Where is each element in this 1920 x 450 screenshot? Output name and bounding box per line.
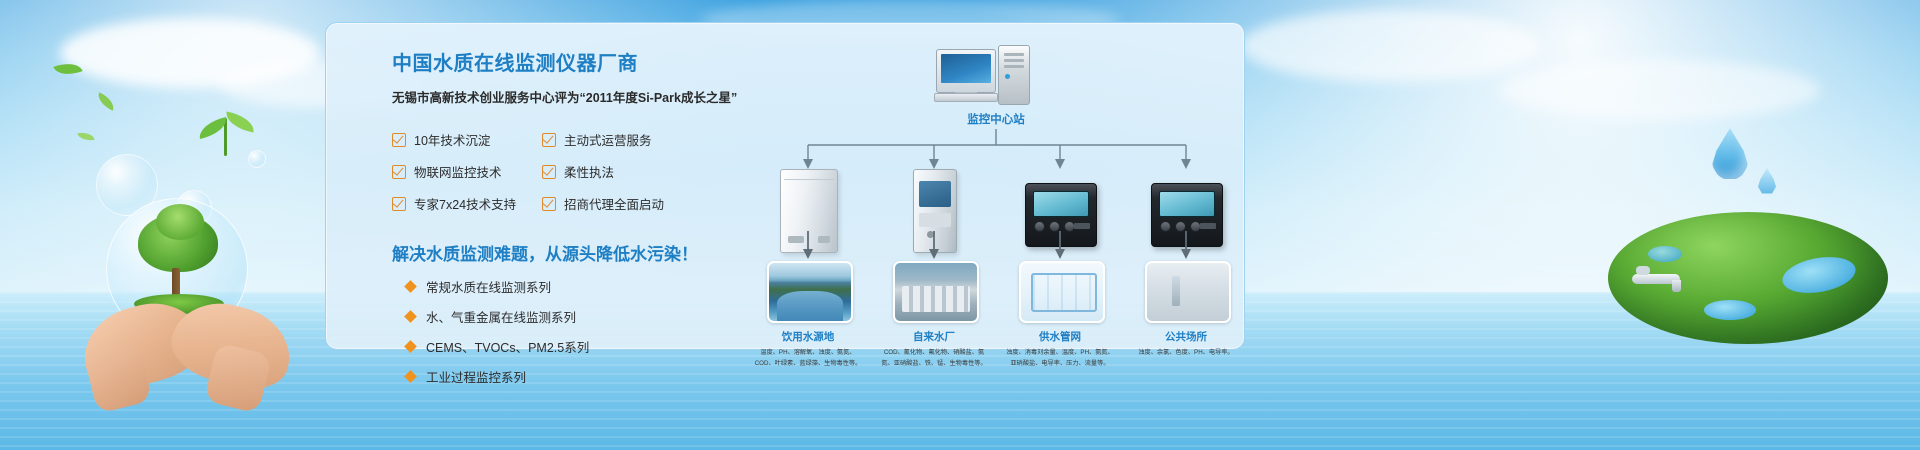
- page-title: 中国水质在线监测仪器厂商: [392, 47, 752, 76]
- checkbox-icon: [392, 197, 406, 211]
- list-item: CEMS、TVOCs、PM2.5系列: [392, 337, 752, 356]
- cloud-decoration: [1500, 60, 1820, 120]
- checklist-item: 物联网监控技术: [392, 162, 542, 181]
- scenario-caption-row: 饮用水源地 温度、PH、溶解氧、浊度、氨氮、COD、叶绿素、蓝绿藻、生物毒性等。…: [756, 329, 1226, 399]
- checkbox-icon: [392, 165, 406, 179]
- list-item-label: 水、气重金属在线监测系列: [426, 307, 576, 326]
- faucet-icon: [1632, 266, 1688, 292]
- device-rack-analyzer: [913, 169, 957, 253]
- device-row: [756, 137, 1226, 229]
- diamond-bullet-icon: [404, 340, 417, 353]
- scenario-caption: 供水管网 浊度、消毒刘余量、温度、PH、氨氮、亚硝酸盐、电导率、压力、流量等。: [1006, 329, 1114, 370]
- scenario-detail: 温度、PH、溶解氧、浊度、氨氮、COD、叶绿素、蓝绿藻、生物毒性等。: [754, 348, 862, 370]
- product-series-list: 常规水质在线监测系列 水、气重金属在线监测系列 CEMS、TVOCs、PM2.5…: [392, 277, 752, 386]
- bubble-decoration: [248, 150, 266, 168]
- checkbox-icon: [542, 165, 556, 179]
- cloud-decoration: [1240, 10, 1540, 82]
- checklist-label: 物联网监控技术: [414, 162, 502, 181]
- monitoring-center-workstation-icon: [936, 45, 1056, 105]
- scenario-detail: COD、氰化物、氟化物、硝酸盐、氨氮、亚硝酸盐、铁、锰、生物毒性等。: [880, 348, 988, 370]
- checklist-label: 主动式运营服务: [564, 130, 652, 149]
- checklist-item: 招商代理全面启动: [542, 194, 692, 213]
- scenario-title: 公共场所: [1132, 329, 1240, 344]
- scenario-title: 饮用水源地: [754, 329, 862, 344]
- checklist-item: 专家7x24技术支持: [392, 194, 542, 213]
- checklist-label: 柔性执法: [564, 162, 614, 181]
- scenario-photo-river: [767, 261, 853, 323]
- panel-text-column: 中国水质在线监测仪器厂商 无锡市高新技术创业服务中心评为“2011年度Si-Pa…: [392, 47, 752, 397]
- checklist-item: 10年技术沉淀: [392, 130, 542, 149]
- scenario-photo-public-tap: [1145, 261, 1231, 323]
- list-item: 常规水质在线监测系列: [392, 277, 752, 296]
- checklist-item: 主动式运营服务: [542, 130, 692, 149]
- main-panel: 中国水质在线监测仪器厂商 无锡市高新技术创业服务中心评为“2011年度Si-Pa…: [325, 22, 1245, 350]
- feature-checklist: 10年技术沉淀 主动式运营服务 物联网监控技术 柔性执法 专家7x24技术支持: [392, 130, 692, 226]
- hands-holding-tree-illustration: [60, 198, 300, 383]
- banner-stage: 中国水质在线监测仪器厂商 无锡市高新技术创业服务中心评为“2011年度Si-Pa…: [0, 0, 1920, 450]
- slogan-text: 解决水质监测难题，从源头降低水污染！: [392, 240, 752, 265]
- scenario-title: 供水管网: [1006, 329, 1114, 344]
- page-subtitle: 无锡市高新技术创业服务中心评为“2011年度Si-Park成长之星”: [392, 87, 752, 106]
- sprout-icon: [196, 112, 256, 156]
- checklist-label: 招商代理全面启动: [564, 194, 664, 213]
- scenario-photo-pipeline: [1019, 261, 1105, 323]
- scenario-detail: 浊度、消毒刘余量、温度、PH、氨氮、亚硝酸盐、电导率、压力、流量等。: [1006, 348, 1114, 370]
- diamond-bullet-icon: [404, 310, 417, 323]
- device-panel-analyzer: [1025, 183, 1097, 247]
- scenario-photo-waterworks: [893, 261, 979, 323]
- checklist-item: 柔性执法: [542, 162, 692, 181]
- device-panel-analyzer: [1151, 183, 1223, 247]
- list-item-label: CEMS、TVOCs、PM2.5系列: [426, 337, 589, 356]
- scenario-caption: 公共场所 浊度、余氯、色度、PH、电导率。: [1132, 329, 1240, 359]
- scenario-caption: 饮用水源地 温度、PH、溶解氧、浊度、氨氮、COD、叶绿素、蓝绿藻、生物毒性等。: [754, 329, 862, 370]
- list-item-label: 常规水质在线监测系列: [426, 277, 551, 296]
- scenario-caption: 自来水厂 COD、氰化物、氟化物、硝酸盐、氨氮、亚硝酸盐、铁、锰、生物毒性等。: [880, 329, 988, 370]
- checklist-label: 10年技术沉淀: [414, 130, 490, 149]
- scenario-detail: 浊度、余氯、色度、PH、电导率。: [1132, 348, 1240, 359]
- checkbox-icon: [392, 133, 406, 147]
- green-earth-illustration: [1608, 212, 1888, 350]
- diamond-bullet-icon: [404, 280, 417, 293]
- list-item: 工业过程监控系列: [392, 367, 752, 386]
- scenario-photo-row: [756, 261, 1226, 323]
- checkbox-icon: [542, 133, 556, 147]
- list-item-label: 工业过程监控系列: [426, 367, 526, 386]
- list-item: 水、气重金属在线监测系列: [392, 307, 752, 326]
- scenario-title: 自来水厂: [880, 329, 988, 344]
- device-cabinet-analyzer: [780, 169, 838, 253]
- checklist-label: 专家7x24技术支持: [414, 194, 516, 213]
- diamond-bullet-icon: [404, 370, 417, 383]
- checkbox-icon: [542, 197, 556, 211]
- system-architecture-diagram: 监控中心站: [756, 33, 1226, 343]
- monitoring-center-label: 监控中心站: [906, 111, 1086, 127]
